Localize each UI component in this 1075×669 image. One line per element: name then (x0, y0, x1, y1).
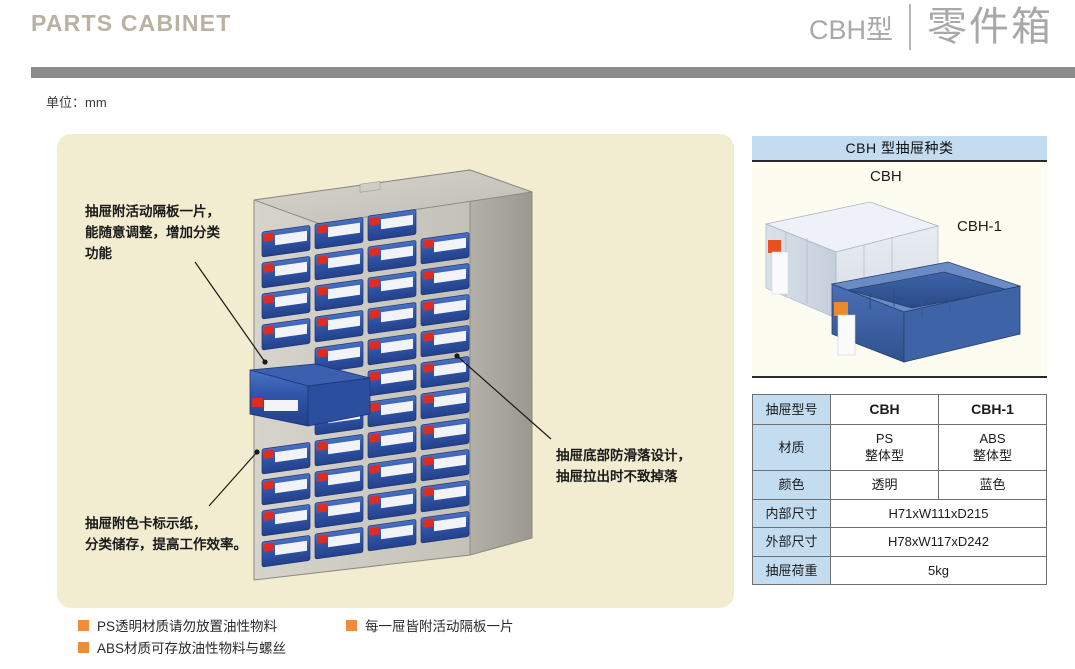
row-label: 内部尺寸 (753, 499, 831, 528)
header-rule-bar (31, 67, 1075, 78)
note-text: PS透明材质请勿放置油性物料 (97, 615, 277, 635)
annotation-color-card-label: 抽屉附色卡标示纸， 分类储存，提高工作效率。 (85, 514, 325, 556)
bullet-square-icon (78, 620, 89, 631)
drawer-bins-svg (752, 162, 1047, 378)
cell-cbh1: ABS 整体型 (939, 424, 1047, 470)
page-title-chinese: 零件箱 (911, 7, 1053, 47)
annotation-divider-plate: 抽屉附活动隔板一片， 能随意调整，增加分类 功能 (85, 202, 305, 265)
cell-value: 5kg (831, 556, 1047, 585)
row-label: 颜色 (753, 470, 831, 499)
table-row-material: 材质 PS 整体型 ABS 整体型 (753, 424, 1047, 470)
table-row-color: 颜色 透明 蓝色 (753, 470, 1047, 499)
row-label: 抽屉荷重 (753, 556, 831, 585)
note-row-1: PS透明材质请勿放置油性物料 每一屉皆附活动隔板一片 (78, 615, 718, 637)
annotation-anti-slip-bottom: 抽屉底部防滑落设计， 抽屉拉出时不致掉落 (556, 446, 756, 488)
unit-label: 单位：mm (46, 92, 107, 111)
note-row-2: ABS材质可存放油性物料与螺丝 (78, 637, 718, 659)
row-label: 外部尺寸 (753, 528, 831, 557)
photo-caption-cbh: CBH (870, 168, 902, 185)
cell-cbh: 透明 (831, 470, 939, 499)
photo-caption-cbh1: CBH-1 (957, 218, 1002, 235)
table-row-inner-size: 内部尺寸 H71xW111xD215 (753, 499, 1047, 528)
drawer-bins-photo: CBH CBH-1 (752, 162, 1047, 378)
cell-value: H71xW111xD215 (831, 499, 1047, 528)
note-item-abs-oil: ABS材质可存放油性物料与螺丝 (78, 637, 286, 657)
cell-line-2: 整体型 (941, 447, 1044, 465)
note-item-divider-included: 每一屉皆附活动隔板一片 (346, 615, 514, 635)
footer-notes: PS透明材质请勿放置油性物料 每一屉皆附活动隔板一片 ABS材质可存放油性物料与… (78, 615, 718, 659)
drawer-kinds-header: CBH 型抽屉种类 (752, 136, 1047, 162)
product-illustration-panel: 抽屉附活动隔板一片， 能随意调整，增加分类 功能 抽屉附色卡标示纸， 分类储存，… (57, 134, 734, 608)
cell-value: H78xW117xD242 (831, 528, 1047, 557)
cell-cbh1: CBH-1 (939, 395, 1047, 425)
row-label: 抽屉型号 (753, 395, 831, 425)
cell-line-1: PS (833, 430, 936, 448)
cell-line-2: 整体型 (833, 447, 936, 465)
cell-cbh1: 蓝色 (939, 470, 1047, 499)
table-row-model: 抽屉型号 CBH CBH-1 (753, 395, 1047, 425)
note-text: ABS材质可存放油性物料与螺丝 (97, 637, 286, 657)
note-text: 每一屉皆附活动隔板一片 (365, 615, 514, 635)
table-row-load: 抽屉荷重 5kg (753, 556, 1047, 585)
drawer-types-panel: CBH 型抽屉种类 (752, 136, 1047, 585)
bullet-square-icon (78, 642, 89, 653)
header-model-code: CBH型 (809, 8, 909, 47)
page-root: PARTS CABINET CBH型 零件箱 单位：mm (0, 0, 1075, 669)
page-title-english: PARTS CABINET (31, 10, 231, 37)
header-model-group: CBH型 零件箱 (809, 4, 1053, 50)
cell-cbh: PS 整体型 (831, 424, 939, 470)
cell-cbh: CBH (831, 395, 939, 425)
specification-table: 抽屉型号 CBH CBH-1 材质 PS 整体型 ABS 整体型 (752, 394, 1047, 585)
row-label: 材质 (753, 424, 831, 470)
note-item-ps-transparent: PS透明材质请勿放置油性物料 (78, 615, 277, 635)
bullet-square-icon (346, 620, 357, 631)
cell-line-1: ABS (941, 430, 1044, 448)
table-row-outer-size: 外部尺寸 H78xW117xD242 (753, 528, 1047, 557)
